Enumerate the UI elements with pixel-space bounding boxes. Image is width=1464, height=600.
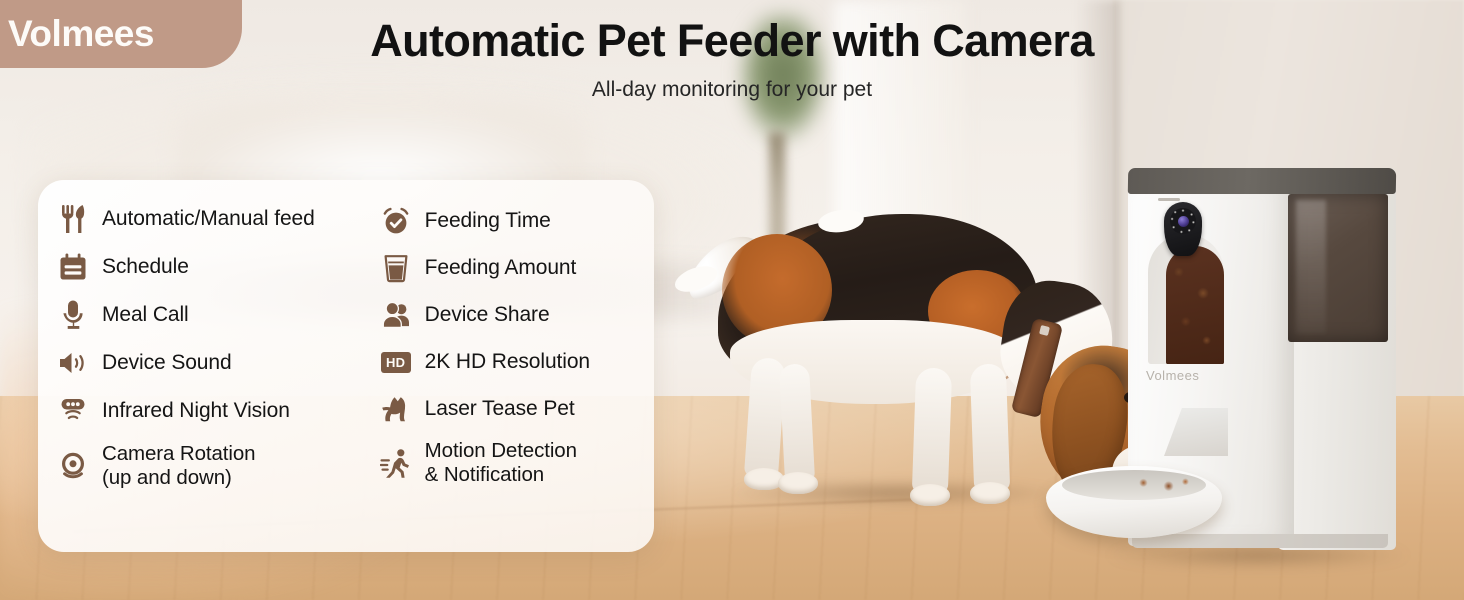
bowl-kibble bbox=[1128, 474, 1198, 496]
feature-meal-call: Meal Call bbox=[56, 298, 379, 332]
feature-label: Laser Tease Pet bbox=[425, 397, 575, 422]
feature-label: Device Share bbox=[425, 303, 550, 328]
feature-label: Feeding Amount bbox=[425, 256, 577, 281]
feature-label: Automatic/Manual feed bbox=[102, 207, 315, 232]
dog-paw-4 bbox=[970, 482, 1010, 504]
feature-label: Schedule bbox=[102, 255, 189, 280]
infrared-sensor-icon bbox=[56, 394, 90, 428]
feature-label: 2K HD Resolution bbox=[425, 350, 590, 375]
feeder-top-lid bbox=[1128, 168, 1396, 194]
feature-motion-detection: Motion Detection& Notification bbox=[379, 439, 638, 487]
two-users-icon bbox=[379, 298, 413, 332]
dog-paw-3 bbox=[910, 484, 950, 506]
feature-label: Infrared Night Vision bbox=[102, 399, 290, 424]
feature-label: Camera Rotation(up and down) bbox=[102, 442, 255, 490]
feature-label: Motion Detection& Notification bbox=[425, 439, 577, 487]
dog-leg-rear-near bbox=[779, 363, 815, 482]
camera-lens-icon bbox=[1178, 216, 1189, 227]
product-banner: Volmees Volmees Automatic Pet Feeder wit… bbox=[0, 0, 1464, 600]
hd-badge-icon: HD bbox=[379, 345, 413, 379]
feature-label: Meal Call bbox=[102, 303, 189, 328]
dog-leg-front-far bbox=[912, 367, 952, 494]
feature-feeding-amount: Feeding Amount bbox=[379, 251, 638, 285]
page-subtitle: All-day monitoring for your pet bbox=[0, 78, 1464, 102]
feature-device-sound: Device Sound bbox=[56, 346, 379, 380]
running-person-icon bbox=[379, 446, 413, 480]
feature-automatic-manual-feed: Automatic/Manual feed bbox=[56, 202, 379, 236]
feature-column-right: Feeding Time Feeding Amount bbox=[379, 202, 638, 532]
feature-camera-rotation: Camera Rotation(up and down) bbox=[56, 442, 379, 490]
feeder-top-vent-slot bbox=[1158, 198, 1180, 201]
feature-label: Feeding Time bbox=[425, 209, 551, 234]
feature-label: Device Sound bbox=[102, 351, 232, 376]
feature-schedule: Schedule bbox=[56, 250, 379, 284]
feature-device-share: Device Share bbox=[379, 298, 638, 332]
feature-feeding-time: Feeding Time bbox=[379, 204, 638, 238]
camera-lens-icon bbox=[56, 449, 90, 483]
alarm-clock-check-icon bbox=[379, 204, 413, 238]
hd-badge-text: HD bbox=[381, 352, 411, 373]
feature-list-card: Automatic/Manual feed Schedule bbox=[38, 180, 654, 552]
measuring-cup-icon bbox=[379, 251, 413, 285]
feature-infrared-night-vision: Infrared Night Vision bbox=[56, 394, 379, 428]
feature-column-left: Automatic/Manual feed Schedule bbox=[56, 202, 379, 532]
dog-leg-front-near bbox=[970, 363, 1010, 492]
speaker-icon bbox=[56, 346, 90, 380]
feeder-brand-text: Volmees bbox=[1146, 368, 1266, 383]
cat-icon bbox=[379, 392, 413, 426]
brand-name: Volmees bbox=[8, 13, 154, 55]
brand-logo-tab: Volmees bbox=[0, 0, 242, 68]
cutlery-icon bbox=[56, 202, 90, 236]
feeder-kibble-column bbox=[1166, 246, 1224, 364]
feeder-hopper-gloss bbox=[1296, 200, 1326, 334]
feature-laser-tease-pet: Laser Tease Pet bbox=[379, 392, 638, 426]
calendar-icon bbox=[56, 250, 90, 284]
feeder-base-foot bbox=[1132, 534, 1388, 548]
feature-2k-hd-resolution: HD 2K HD Resolution bbox=[379, 345, 638, 379]
microphone-icon bbox=[56, 298, 90, 332]
dog-paw-2 bbox=[778, 472, 818, 494]
